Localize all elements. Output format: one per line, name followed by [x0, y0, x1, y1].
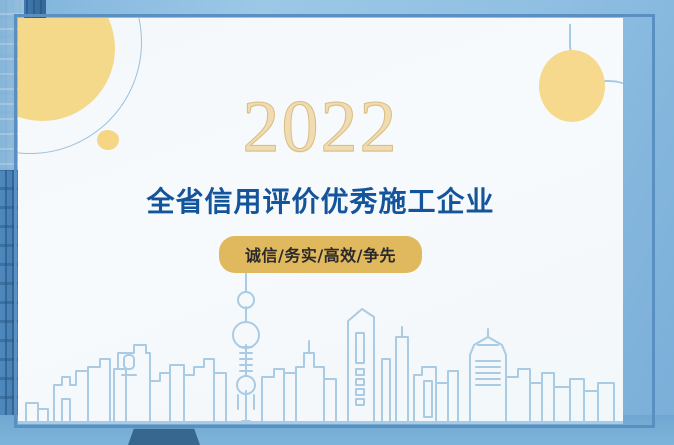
year-heading: 2022 [18, 90, 623, 164]
page-title: 全省信用评价优秀施工企业 [18, 180, 623, 220]
slogan-badge: 诚信/务实/高效/争先 [219, 236, 422, 273]
poster-text-content: 2022 全省信用评价优秀施工企业 诚信/务实/高效/争先 [18, 18, 623, 273]
award-poster: 2022 全省信用评价优秀施工企业 诚信/务实/高效/争先 [0, 0, 674, 445]
skyline-ground-line [18, 421, 623, 424]
poster-card: 2022 全省信用评价优秀施工企业 诚信/务实/高效/争先 [18, 18, 623, 424]
slogan-container: 诚信/务实/高效/争先 [18, 236, 623, 273]
city-skyline-illustration [18, 249, 623, 424]
